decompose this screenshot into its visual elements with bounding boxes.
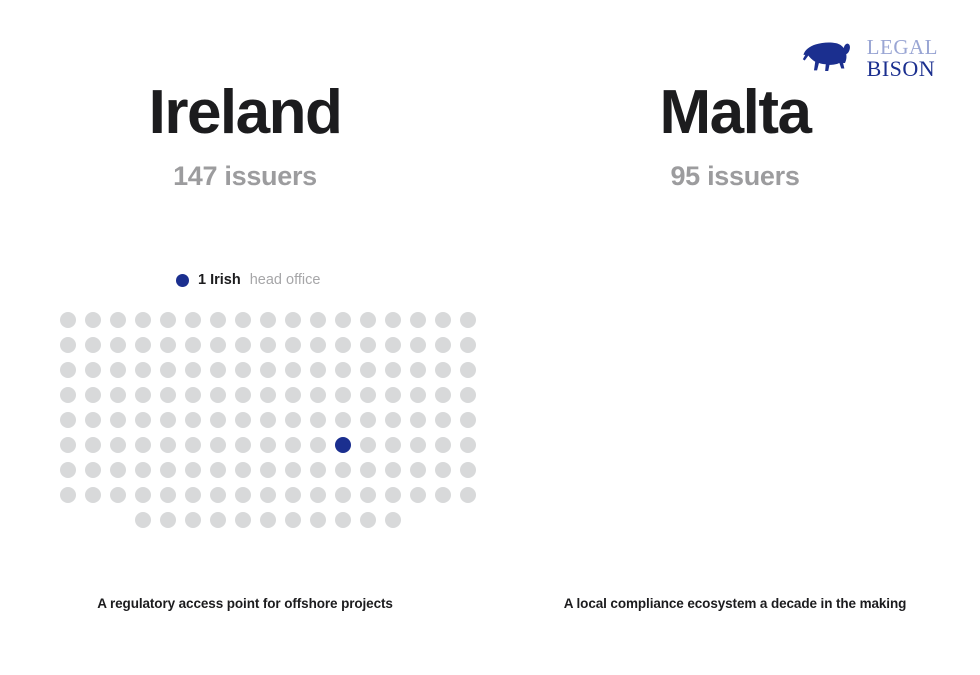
dot-issuer <box>460 337 476 353</box>
dot-issuer <box>285 412 301 428</box>
dot-issuer <box>160 437 176 453</box>
dot-issuer <box>310 312 326 328</box>
dot-issuer <box>60 362 76 378</box>
dot-issuer <box>110 312 126 328</box>
dot-issuer <box>285 512 301 528</box>
dot-issuer <box>360 437 376 453</box>
dot-issuer <box>360 337 376 353</box>
dot-issuer <box>85 337 101 353</box>
dot-issuer <box>260 512 276 528</box>
dot-issuer <box>360 362 376 378</box>
dot-issuer <box>310 462 326 478</box>
dot-issuer <box>435 487 451 503</box>
subtitle-ireland: 147 issuers <box>0 161 490 192</box>
dot-issuer <box>460 362 476 378</box>
dot-issuer <box>60 437 76 453</box>
dot-issuer <box>460 312 476 328</box>
page-title-ireland: Ireland <box>0 82 490 144</box>
dot-issuer <box>335 512 351 528</box>
dot-issuer <box>285 312 301 328</box>
dot-issuer <box>260 412 276 428</box>
dot-issuer <box>360 487 376 503</box>
dot-issuer <box>185 437 201 453</box>
dot-issuer <box>160 362 176 378</box>
legend-ireland: 1 Irish head office <box>176 272 320 288</box>
dot-issuer <box>185 362 201 378</box>
dot-head-office <box>335 437 351 453</box>
dot-issuer <box>435 362 451 378</box>
dot-issuer <box>310 437 326 453</box>
dot-issuer <box>310 337 326 353</box>
dot-issuer <box>285 337 301 353</box>
dot-issuer <box>60 387 76 403</box>
dot-issuer <box>135 462 151 478</box>
dot-issuer <box>285 362 301 378</box>
dot-issuer <box>135 412 151 428</box>
dot-issuer <box>410 487 426 503</box>
dot-issuer <box>285 487 301 503</box>
dot-issuer <box>385 512 401 528</box>
dot-issuer <box>385 337 401 353</box>
dot-issuer <box>335 337 351 353</box>
dot-issuer <box>460 462 476 478</box>
dot-issuer <box>435 337 451 353</box>
dot-issuer <box>335 487 351 503</box>
dot-issuer <box>435 387 451 403</box>
dot-issuer <box>235 412 251 428</box>
dot-issuer <box>185 512 201 528</box>
dot-issuer <box>210 337 226 353</box>
dot-issuer <box>210 487 226 503</box>
dot-issuer <box>85 312 101 328</box>
dot-issuer <box>385 312 401 328</box>
dot-grid-row <box>60 462 476 478</box>
dot-issuer <box>60 462 76 478</box>
legend-value-ireland: 1 Irish <box>198 272 241 288</box>
dot-issuer <box>235 487 251 503</box>
dot-issuer <box>110 487 126 503</box>
dot-issuer <box>210 412 226 428</box>
dot-issuer <box>160 462 176 478</box>
dot-issuer <box>110 337 126 353</box>
dot-issuer <box>160 337 176 353</box>
dot-issuer <box>110 362 126 378</box>
dot-issuer <box>360 512 376 528</box>
dot-issuer <box>235 387 251 403</box>
dot-issuer <box>235 362 251 378</box>
dot-issuer <box>235 437 251 453</box>
dot-issuer <box>385 487 401 503</box>
dot-grid-row <box>60 337 476 353</box>
dot-issuer <box>260 437 276 453</box>
dot-issuer <box>210 512 226 528</box>
dot-grid-ireland <box>60 312 476 528</box>
dot-issuer <box>135 512 151 528</box>
dot-issuer <box>260 337 276 353</box>
legend-dot-icon <box>176 274 189 287</box>
dot-issuer <box>235 462 251 478</box>
dot-issuer <box>360 462 376 478</box>
dot-issuer <box>335 412 351 428</box>
dot-issuer <box>260 387 276 403</box>
dot-issuer <box>435 412 451 428</box>
dot-issuer <box>85 362 101 378</box>
dot-issuer <box>185 412 201 428</box>
dot-issuer <box>360 412 376 428</box>
dot-issuer <box>410 412 426 428</box>
dot-issuer <box>260 362 276 378</box>
dot-issuer <box>435 437 451 453</box>
dot-issuer <box>310 512 326 528</box>
dot-issuer <box>110 462 126 478</box>
dot-issuer <box>210 312 226 328</box>
dot-issuer <box>285 437 301 453</box>
dot-issuer <box>160 387 176 403</box>
dot-issuer <box>210 462 226 478</box>
dot-issuer <box>135 487 151 503</box>
dot-issuer <box>110 437 126 453</box>
dot-issuer <box>210 437 226 453</box>
dot-issuer <box>410 337 426 353</box>
dot-issuer <box>135 337 151 353</box>
dot-issuer <box>385 462 401 478</box>
dot-issuer <box>185 337 201 353</box>
dot-issuer <box>310 412 326 428</box>
dot-issuer <box>260 487 276 503</box>
dot-issuer <box>85 462 101 478</box>
dot-issuer <box>385 412 401 428</box>
dot-issuer <box>235 337 251 353</box>
dot-issuer <box>335 312 351 328</box>
dot-issuer <box>260 462 276 478</box>
dot-issuer <box>110 387 126 403</box>
dot-issuer <box>335 362 351 378</box>
dot-issuer <box>460 437 476 453</box>
dot-issuer <box>185 387 201 403</box>
dot-issuer <box>435 312 451 328</box>
dot-issuer <box>135 362 151 378</box>
dot-issuer <box>60 412 76 428</box>
page-title-malta: Malta <box>490 82 980 144</box>
column-ireland: Ireland 147 issuers 1 Irish head office … <box>0 0 490 675</box>
dot-issuer <box>410 312 426 328</box>
dot-issuer <box>160 312 176 328</box>
dot-grid-row <box>60 487 476 503</box>
dot-issuer <box>85 437 101 453</box>
column-malta: Malta 95 issuers 20 Maltese head offices… <box>490 0 980 675</box>
dot-issuer <box>60 337 76 353</box>
dot-grid-row <box>60 387 476 403</box>
dot-issuer <box>85 487 101 503</box>
dot-issuer <box>135 437 151 453</box>
dot-issuer <box>410 387 426 403</box>
dot-issuer <box>185 462 201 478</box>
dot-issuer <box>285 462 301 478</box>
dot-issuer <box>210 362 226 378</box>
dot-issuer <box>260 312 276 328</box>
dot-grid-row <box>60 512 476 528</box>
dot-issuer <box>160 512 176 528</box>
dot-issuer <box>335 387 351 403</box>
dot-issuer <box>460 412 476 428</box>
comparison-columns: Ireland 147 issuers 1 Irish head office … <box>0 0 980 675</box>
dot-issuer <box>60 487 76 503</box>
dot-issuer <box>160 487 176 503</box>
dot-issuer <box>385 362 401 378</box>
dot-issuer <box>460 387 476 403</box>
dot-issuer <box>285 387 301 403</box>
dot-grid-row <box>60 412 476 428</box>
dot-issuer <box>360 312 376 328</box>
dot-grid-row <box>60 437 476 453</box>
dot-issuer <box>110 412 126 428</box>
dot-issuer <box>310 387 326 403</box>
dot-grid-row <box>60 312 476 328</box>
dot-issuer <box>410 362 426 378</box>
dot-issuer <box>410 462 426 478</box>
dot-issuer <box>310 362 326 378</box>
dot-issuer <box>235 512 251 528</box>
caption-malta: A local compliance ecosystem a decade in… <box>490 596 980 611</box>
dot-grid-row <box>60 362 476 378</box>
dot-issuer <box>235 312 251 328</box>
dot-issuer <box>135 312 151 328</box>
dot-issuer <box>460 487 476 503</box>
dot-issuer <box>310 487 326 503</box>
dot-issuer <box>85 387 101 403</box>
dot-issuer <box>185 312 201 328</box>
dot-issuer <box>135 387 151 403</box>
dot-issuer <box>360 387 376 403</box>
dot-issuer <box>385 387 401 403</box>
legend-label-ireland: head office <box>250 272 321 288</box>
dot-issuer <box>185 487 201 503</box>
caption-ireland: A regulatory access point for offshore p… <box>0 596 490 611</box>
dot-issuer <box>435 462 451 478</box>
dot-issuer <box>385 437 401 453</box>
dot-issuer <box>335 462 351 478</box>
dot-issuer <box>85 412 101 428</box>
dot-issuer <box>60 312 76 328</box>
dot-issuer <box>160 412 176 428</box>
dot-issuer <box>210 387 226 403</box>
subtitle-malta: 95 issuers <box>490 161 980 192</box>
dot-issuer <box>410 437 426 453</box>
